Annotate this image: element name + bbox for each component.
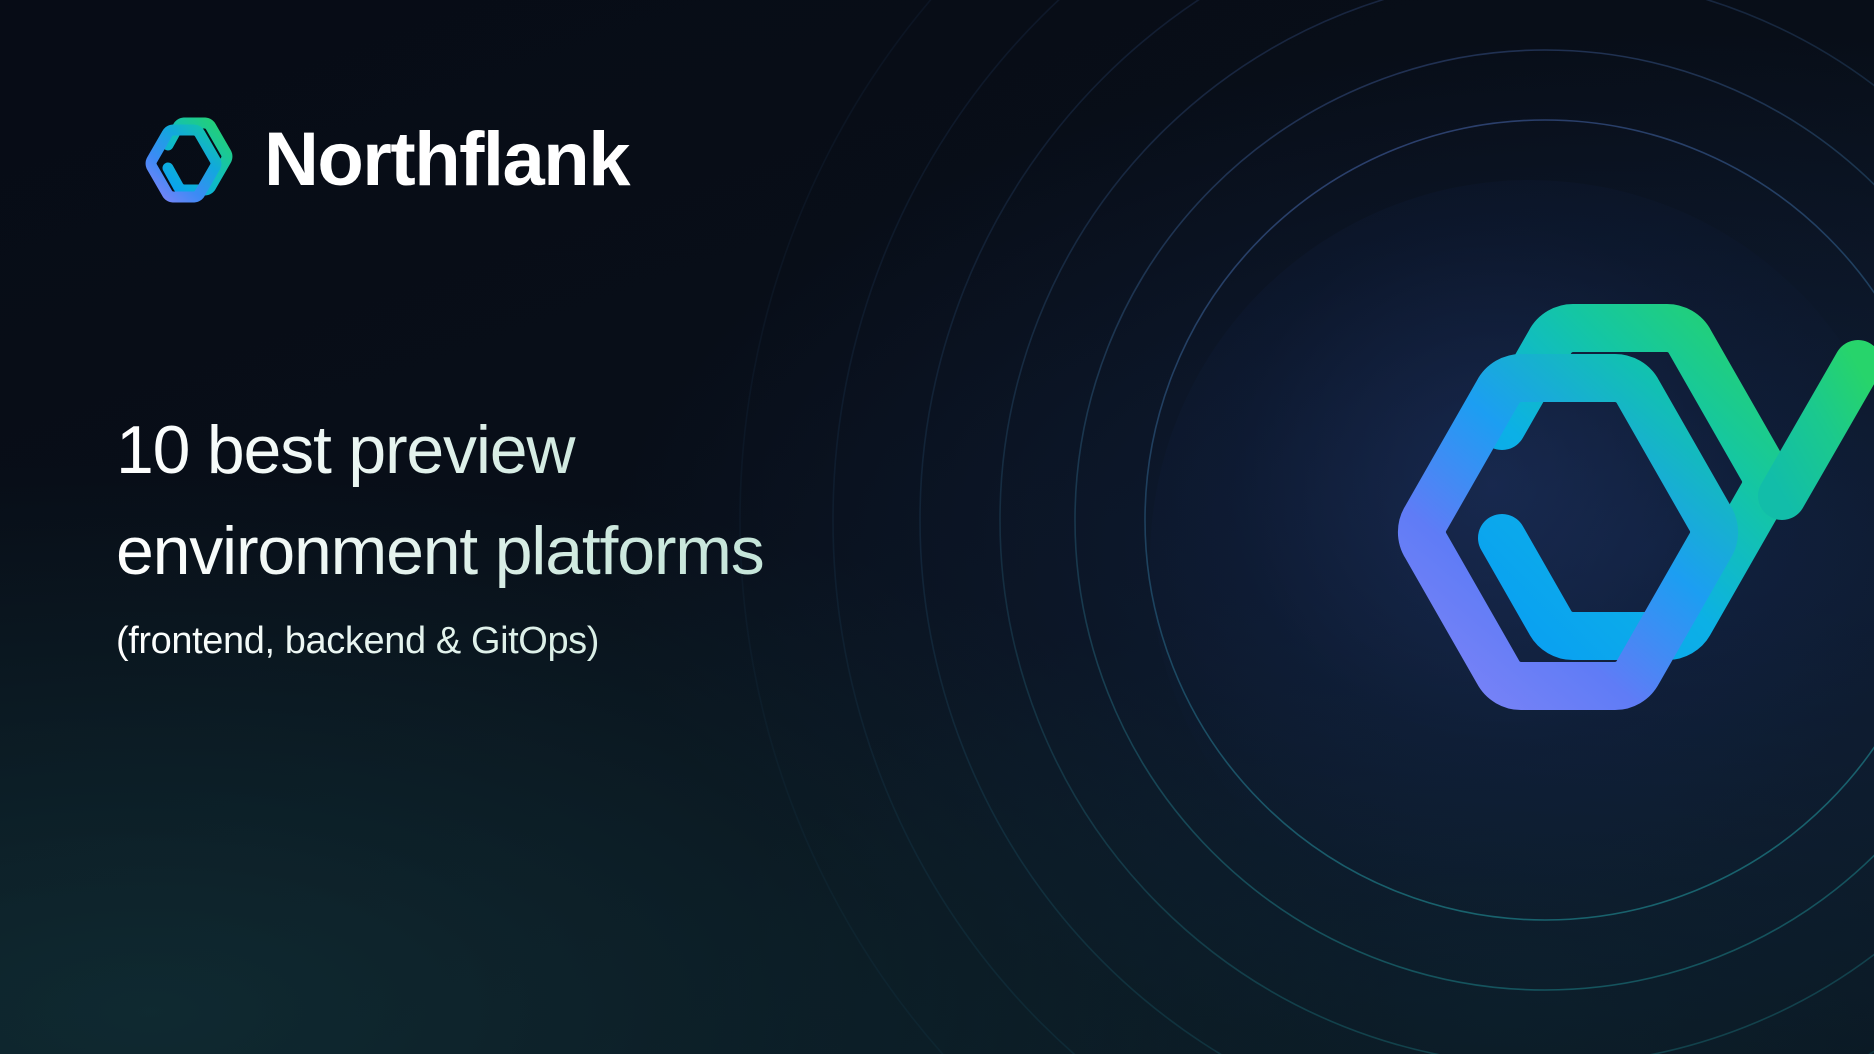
logo-hexagon-front [1422, 378, 1714, 686]
logo-hexagon-back [1502, 328, 1766, 636]
ring-group [740, 0, 1874, 1054]
headline-line-1: 10 best preview [116, 400, 876, 501]
logo-tail-stroke [1782, 364, 1858, 496]
hero-glow [1150, 180, 1874, 940]
hero-copy: 10 best preview environment platforms (f… [116, 400, 876, 667]
ring-1 [1145, 120, 1874, 920]
ring-4 [920, 0, 1874, 1054]
hero-logo-mark [1262, 300, 1874, 720]
ring-2 [1075, 50, 1874, 990]
northflank-logo-mark-icon [116, 112, 240, 208]
ring-3 [1000, 0, 1874, 1054]
brand-lockup: Northflank [116, 112, 629, 208]
ring-6 [740, 0, 1874, 1054]
brand-wordmark: Northflank [264, 122, 629, 198]
cover-canvas: Northflank 10 best preview environment p… [0, 0, 1874, 1054]
headline-line-2: environment platforms [116, 501, 876, 602]
ring-5 [833, 0, 1874, 1054]
headline-subhead: (frontend, backend & GitOps) [116, 617, 876, 666]
